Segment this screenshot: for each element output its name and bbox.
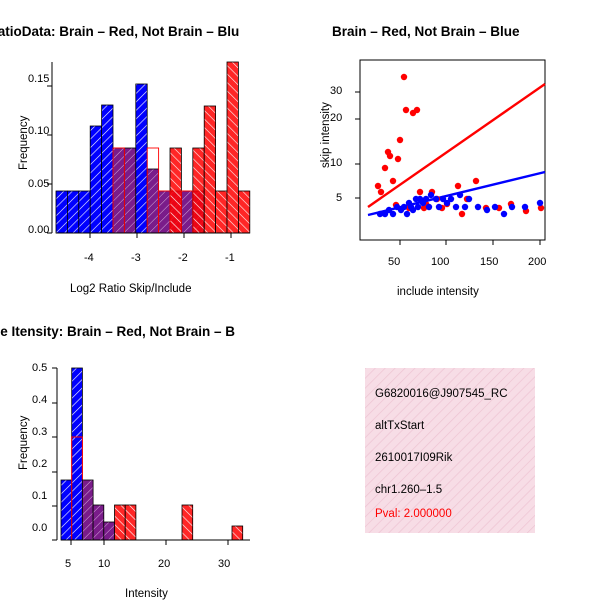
panel-hist-intensity: ne Itensity: Brain – Red, Not Brain – B … xyxy=(0,300,300,600)
scatter-plot xyxy=(300,0,600,300)
info-line-2: 2610017I09Rik xyxy=(375,452,452,464)
hist-intensity-bars xyxy=(61,368,243,540)
scatter-trend-lines xyxy=(368,84,545,215)
hist-intensity-plot xyxy=(0,300,300,600)
panel-hist-ratio: RatioData: Brain – Red, Not Brain – Blu … xyxy=(0,0,300,300)
figure-page: RatioData: Brain – Red, Not Brain – Blu … xyxy=(0,0,600,600)
info-pval: Pval: 2.000000 xyxy=(375,508,452,520)
panel-info: G6820016@J907545_RC altTxStart 2610017I0… xyxy=(300,300,600,600)
info-line-0: G6820016@J907545_RC xyxy=(375,388,508,400)
hist-ratio-blue-bars xyxy=(56,84,204,233)
info-line-1: altTxStart xyxy=(375,420,424,432)
panel-scatter: Brain – Red, Not Brain – Blue skip inten… xyxy=(300,0,600,300)
info-line-3: chr1.260–1.5 xyxy=(375,484,442,496)
hist-ratio-plot xyxy=(0,0,300,300)
info-box: G6820016@J907545_RC altTxStart 2610017I0… xyxy=(365,368,535,533)
